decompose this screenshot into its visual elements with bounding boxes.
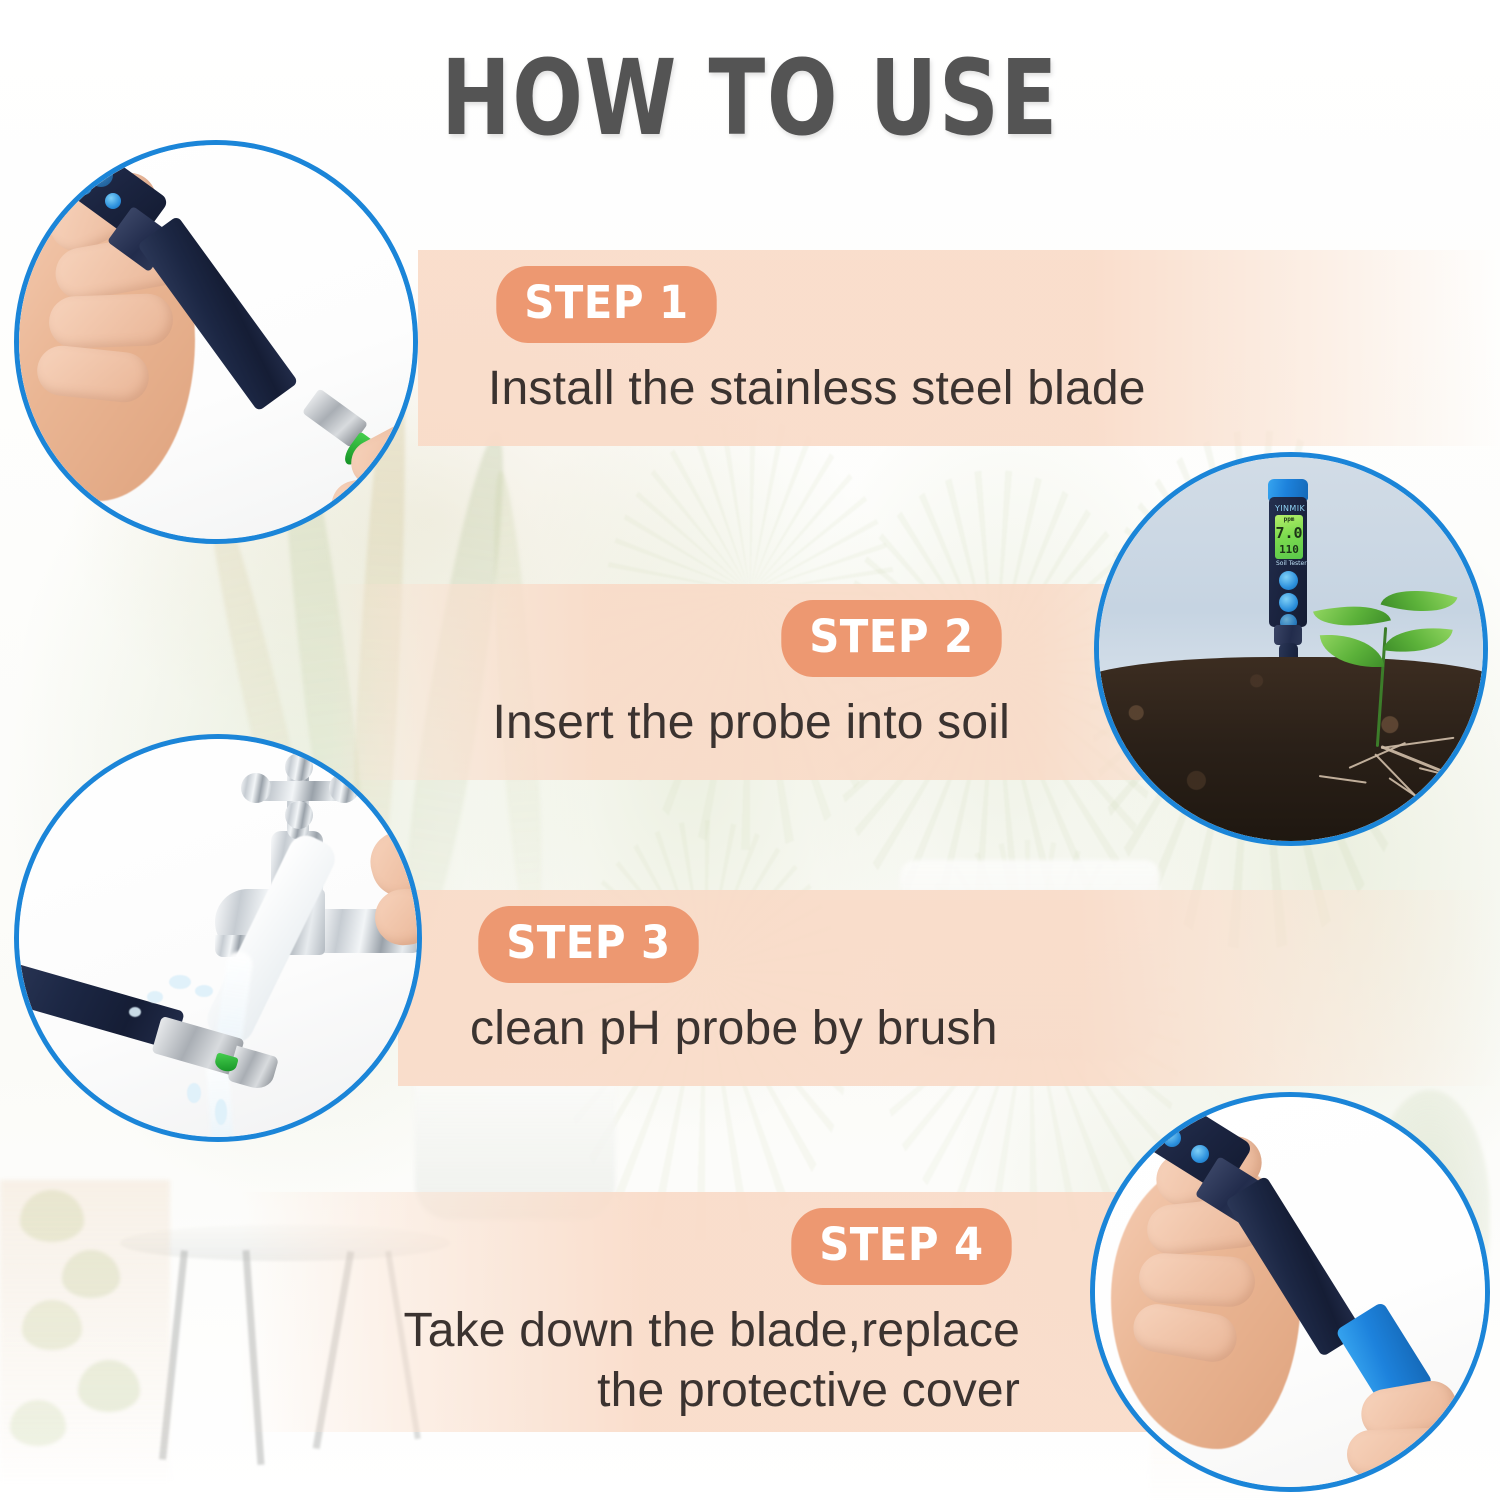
step-1-badge: STEP 1 — [496, 266, 716, 343]
step-3-photo-inner — [19, 739, 417, 1137]
background-wall-panel — [0, 1180, 170, 1480]
step-2-photo-inner: YINMIK ppm 7.0 110 Soil Tester — [1099, 457, 1483, 841]
step-4-badge: STEP 4 — [791, 1208, 1011, 1285]
faucet-handle-knob — [329, 773, 359, 803]
step-2-text-block: STEP 2 Insert the probe into soil — [380, 600, 1010, 753]
step-3-description: clean pH probe by brush — [470, 999, 1170, 1059]
step-3-badge: STEP 3 — [478, 906, 698, 983]
water-droplet — [147, 991, 163, 1003]
step-2-description: Insert the probe into soil — [380, 693, 1010, 753]
mode-button-icon — [1279, 593, 1298, 612]
step-2-badge: STEP 2 — [781, 600, 1001, 677]
step-2-photo: YINMIK ppm 7.0 110 Soil Tester — [1094, 452, 1488, 846]
step-1-text-block: STEP 1 Install the stainless steel blade — [488, 266, 1188, 419]
faucet-handle-knob — [285, 801, 313, 829]
step-1-photo-inner — [19, 145, 413, 539]
step-1-description: Install the stainless steel blade — [488, 359, 1188, 419]
step-4-description: Take down the blade,replace the protecti… — [290, 1301, 1020, 1420]
power-button-icon — [76, 179, 92, 195]
brand-label: YINMIK — [1275, 505, 1305, 513]
mode-button-icon — [1191, 1145, 1209, 1163]
model-label: Soil Tester — [1276, 561, 1307, 567]
lcd-primary-value: 7.0 — [1275, 524, 1303, 542]
flower-logo-icon — [89, 163, 113, 187]
hand-finger — [1138, 1252, 1256, 1308]
water-droplet — [187, 1083, 201, 1103]
mode-button-icon — [105, 193, 121, 209]
water-droplet — [169, 975, 191, 989]
lcd-secondary-value: 110 — [1275, 543, 1303, 556]
step-4-photo: Soil Tester — [1090, 1092, 1490, 1492]
power-button-icon — [1279, 571, 1298, 590]
lcd-display: ppm 7.0 110 — [1275, 515, 1303, 559]
step-1-photo — [14, 140, 418, 544]
meter-collar — [1274, 625, 1302, 645]
water-droplet — [129, 1007, 141, 1017]
power-button-icon — [1163, 1129, 1181, 1147]
faucet-handle-knob — [285, 753, 313, 781]
soil-bed — [1099, 657, 1483, 841]
step-4-photo-inner: Soil Tester — [1095, 1097, 1485, 1487]
water-droplet — [215, 1099, 227, 1125]
hand-finger — [48, 293, 174, 349]
faucet-handle-knob — [241, 773, 271, 803]
hand-finger — [1346, 1427, 1452, 1479]
lcd-unit-label: ppm — [1275, 516, 1303, 523]
step-3-text-block: STEP 3 clean pH probe by brush — [470, 906, 1170, 1059]
water-droplet — [195, 985, 213, 997]
page-title: HOW TO USE — [150, 46, 1350, 150]
step-3-photo — [14, 734, 422, 1142]
step-4-text-block: STEP 4 Take down the blade,replace the p… — [290, 1208, 1020, 1420]
